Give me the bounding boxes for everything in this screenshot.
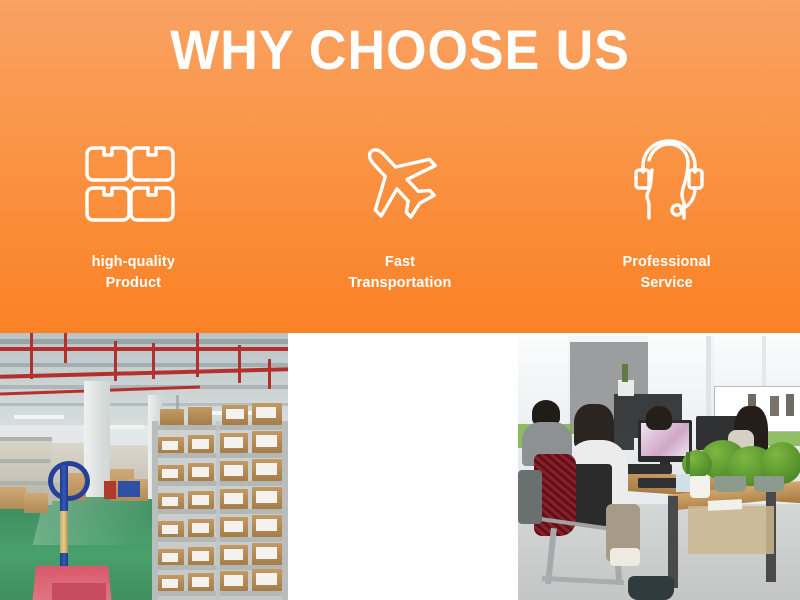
bottom-section: TRENDY STYLE GUARANTEE PRODUCT QUALITY P… (0, 333, 800, 600)
feature-label-line2: Product (92, 273, 175, 294)
feature-label-line2: Transportation (349, 273, 452, 294)
feature-item-professional-service: Professional Service (533, 128, 800, 294)
warehouse-photo (0, 333, 288, 600)
feature-label-line1: Fast (349, 252, 452, 273)
airplane-icon (350, 128, 450, 236)
slogan-line: TRENDY (358, 355, 446, 381)
slogan-line: PRODUCT (335, 455, 470, 481)
why-choose-us-banner: WHY CHOOSE US high-quality (0, 0, 800, 600)
headset-icon (619, 128, 715, 236)
slogan-line: PROFESSIONAL (318, 529, 486, 555)
feature-label-line2: Service (623, 273, 711, 294)
feature-list: high-quality Product Fast Transportation (0, 128, 800, 294)
header-section: WHY CHOOSE US high-quality (0, 0, 800, 333)
slogan-block-trendy-style: TRENDY STYLE (358, 355, 446, 407)
feature-label: Professional Service (623, 252, 711, 294)
feature-item-fast-transportation: Fast Transportation (267, 128, 534, 294)
office-photo (518, 336, 800, 600)
slogan-line: SERVICE (318, 555, 486, 581)
feature-label: high-quality Product (92, 252, 175, 294)
slogan-block-professional-service: PROFESSIONAL SERVICE (318, 529, 486, 581)
slogan-line: STYLE (358, 381, 446, 407)
page-title: WHY CHOOSE US (28, 17, 772, 83)
feature-label: Fast Transportation (349, 252, 452, 294)
feature-label-line1: high-quality (92, 252, 175, 273)
slogan-block-guarantee-product-quality: GUARANTEE PRODUCT QUALITY (335, 429, 470, 507)
feature-item-high-quality-product: high-quality Product (0, 128, 267, 294)
slogan-line: QUALITY (335, 481, 470, 507)
slogan-line: GUARANTEE (335, 429, 470, 455)
slogan-panel: TRENDY STYLE GUARANTEE PRODUCT QUALITY P… (288, 333, 516, 600)
feature-label-line1: Professional (623, 252, 711, 273)
boxes-icon (85, 128, 181, 236)
